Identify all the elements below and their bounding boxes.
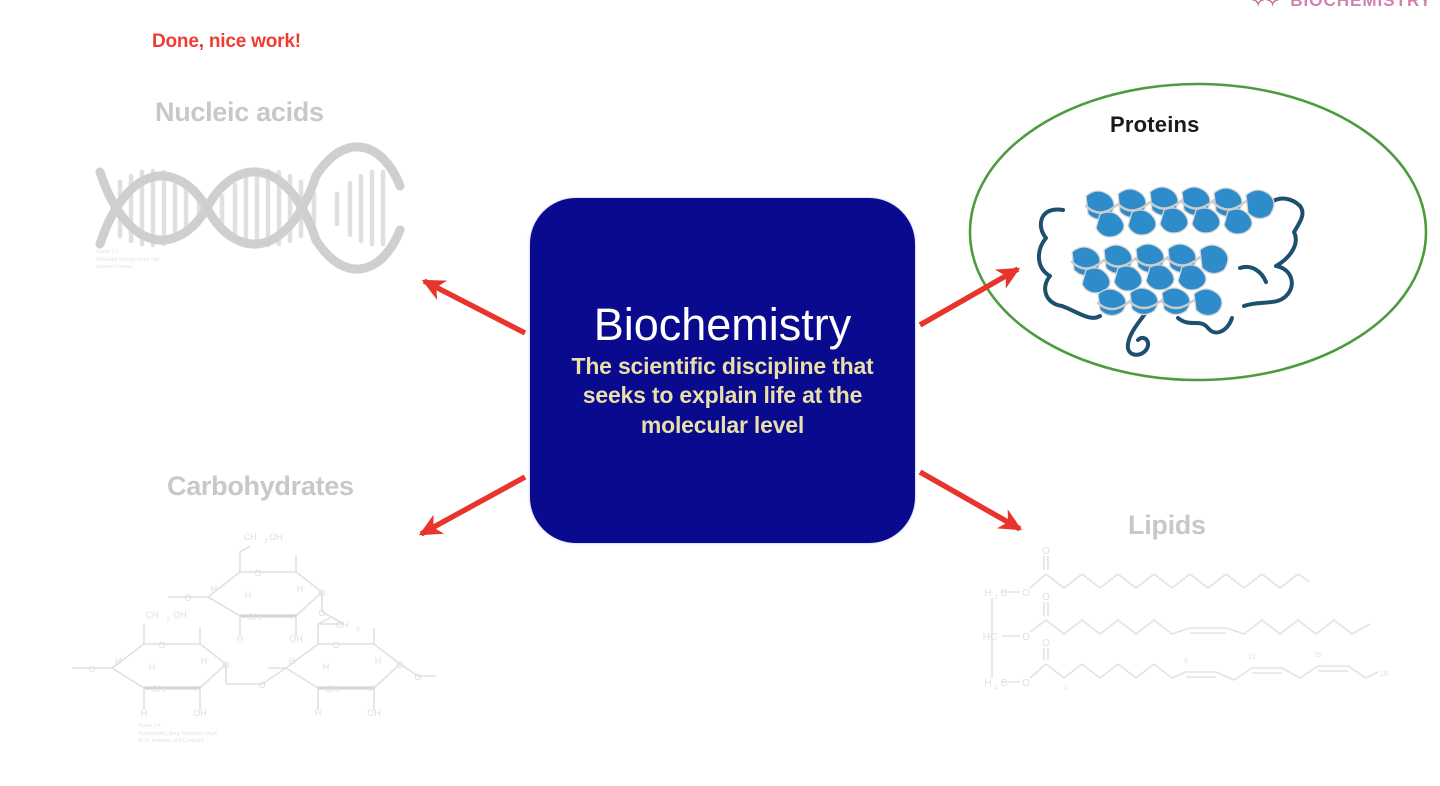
svg-text:O: O — [88, 664, 95, 674]
central-box-title: Biochemistry — [594, 301, 852, 348]
svg-text:O: O — [258, 680, 265, 690]
svg-text:1: 1 — [1064, 685, 1068, 692]
central-concept-box: Biochemistry The scientific discipline t… — [530, 198, 915, 543]
svg-text:O: O — [254, 568, 261, 578]
arrow-to-nucleic-acids — [424, 281, 525, 333]
svg-text:CH: CH — [244, 532, 257, 542]
svg-text:2: 2 — [994, 685, 998, 691]
protein-ribbon-structure-icon — [1039, 187, 1303, 355]
polysaccharide-structure-icon — [72, 546, 436, 710]
svg-text:O: O — [414, 672, 421, 682]
svg-text:O: O — [318, 588, 325, 598]
svg-text:OH: OH — [151, 684, 165, 694]
svg-text:O: O — [158, 640, 165, 650]
svg-text:O: O — [1042, 592, 1050, 603]
section-label-nucleic-acids: Nucleic acids — [155, 97, 324, 128]
svg-text:H: H — [375, 656, 382, 666]
svg-text:CH: CH — [336, 620, 349, 630]
figure-caption-nucleic-acids: Figure 1-1 Molecular Biology of the Cell… — [96, 249, 159, 272]
svg-text:O: O — [1022, 632, 1030, 643]
svg-text:H: H — [211, 584, 218, 594]
section-label-carbohydrates: Carbohydrates — [167, 471, 354, 502]
svg-text:H: H — [984, 588, 991, 599]
triglyceride-atom-labels: H2C O HC O H2C O O O O 9 12 15 18 1 — [983, 546, 1388, 692]
svg-text:H: H — [369, 684, 376, 694]
svg-text:O: O — [1042, 638, 1050, 649]
svg-text:O: O — [184, 593, 191, 603]
svg-text:C: C — [1000, 588, 1007, 599]
svg-text:H: H — [141, 708, 148, 718]
biochemistry-watermark-header: ✧✧ BIOCHEMISTRY — [1251, 0, 1432, 11]
svg-text:H: H — [237, 634, 244, 644]
svg-text:2: 2 — [264, 539, 268, 545]
triglyceride-structure-icon — [992, 556, 1378, 682]
biochemistry-overview-slide: ✧✧ BIOCHEMISTRY Done, nice work! Nucleic… — [0, 0, 1440, 786]
central-box-subtitle: The scientific discipline that seeks to … — [548, 352, 897, 440]
svg-text:OH: OH — [247, 612, 261, 622]
arrow-to-proteins — [920, 269, 1018, 325]
svg-text:OH: OH — [325, 684, 339, 694]
svg-text:OH: OH — [289, 634, 303, 644]
watermark-label: BIOCHEMISTRY — [1290, 0, 1432, 11]
svg-text:CH: CH — [146, 610, 159, 620]
arrow-to-lipids — [920, 472, 1020, 529]
svg-text:O: O — [1022, 678, 1030, 689]
svg-text:2: 2 — [994, 595, 998, 601]
svg-text:H: H — [149, 662, 156, 672]
svg-text:H: H — [289, 656, 296, 666]
svg-text:O: O — [318, 608, 325, 618]
figure-caption-carbohydrates: Figure 2-4 Biochemistry, Berg Tymoczko S… — [138, 723, 218, 746]
svg-text:C: C — [1000, 678, 1007, 689]
svg-text:H: H — [115, 656, 122, 666]
svg-text:H: H — [291, 612, 298, 622]
svg-text:H: H — [297, 584, 304, 594]
svg-text:O: O — [1042, 546, 1050, 557]
svg-text:OH: OH — [367, 708, 381, 718]
svg-text:HC: HC — [983, 632, 997, 643]
svg-text:H: H — [323, 662, 330, 672]
svg-text:H: H — [245, 590, 252, 600]
svg-text:OH: OH — [269, 532, 283, 542]
svg-text:2: 2 — [356, 627, 360, 633]
svg-text:OH: OH — [173, 610, 187, 620]
svg-text:2: 2 — [166, 617, 170, 623]
arrow-to-carbohydrates — [421, 477, 525, 534]
svg-text:H: H — [195, 684, 202, 694]
svg-text:O: O — [396, 660, 403, 670]
svg-text:15: 15 — [1314, 652, 1322, 659]
svg-text:O: O — [1022, 588, 1030, 599]
svg-text:H: H — [984, 678, 991, 689]
svg-text:18: 18 — [1380, 671, 1388, 678]
status-message: Done, nice work! — [152, 31, 301, 53]
svg-text:9: 9 — [1184, 658, 1188, 665]
svg-text:H: H — [315, 708, 322, 718]
section-label-lipids: Lipids — [1128, 510, 1206, 541]
svg-text:H: H — [201, 656, 208, 666]
svg-text:12: 12 — [1248, 654, 1256, 661]
svg-text:OH: OH — [193, 708, 207, 718]
section-label-proteins: Proteins — [1110, 112, 1200, 138]
watermark-logo-icon: ✧✧ — [1251, 0, 1280, 11]
svg-text:O: O — [222, 660, 229, 670]
svg-text:O: O — [332, 640, 339, 650]
polysaccharide-atom-labels: CH2OH H H OH H H O O O H OH O CH2 CH2OH … — [88, 532, 421, 718]
